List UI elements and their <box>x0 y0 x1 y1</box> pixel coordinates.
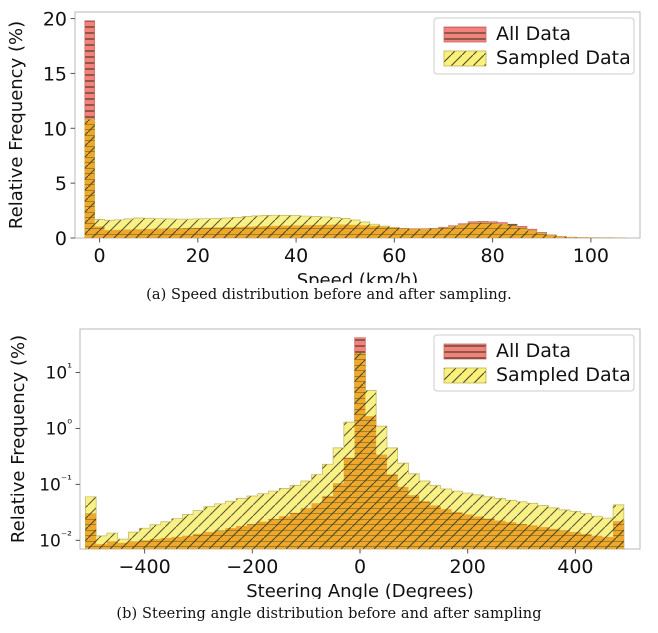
legend-item-all-data-swatch <box>444 27 486 42</box>
caption-b: (b) Steering angle distribution before a… <box>0 599 658 629</box>
y-tick-label: 10¹ <box>46 361 73 384</box>
x-axis-label: Steering Angle (Degrees) <box>246 581 473 599</box>
legend-item-all-data-label: All Data <box>496 23 571 45</box>
legend-item-sampled-data-swatch <box>444 368 486 383</box>
legend-item-all-data-swatch <box>444 344 486 359</box>
panel-steering-distribution: −400−200020040010⁻²10⁻¹10⁰10¹Steering An… <box>0 307 658 599</box>
y-tick-label: 20 <box>43 9 67 31</box>
y-tick-label: 0 <box>55 228 67 250</box>
caption-a: (a) Speed distribution before and after … <box>0 283 658 307</box>
x-tick-label: 200 <box>450 556 486 578</box>
steering-histogram-chart: −400−200020040010⁻²10⁻¹10⁰10¹Steering An… <box>0 307 658 599</box>
y-tick-label: 10⁻² <box>39 528 72 551</box>
x-tick-label: 0 <box>354 556 366 578</box>
y-tick-label: 10⁻¹ <box>39 472 72 495</box>
panel-speed-distribution: 02040608010005101520Speed (km/h)Relative… <box>0 0 658 283</box>
x-tick-label: 400 <box>557 556 593 578</box>
x-tick-label: 0 <box>94 245 106 267</box>
x-tick-label: 40 <box>284 245 308 267</box>
x-tick-label: 60 <box>382 245 406 267</box>
x-axis-label: Speed (km/h) <box>297 270 419 283</box>
y-tick-label: 10 <box>43 118 67 140</box>
y-tick-label: 5 <box>55 173 67 195</box>
figure-root: 02040608010005101520Speed (km/h)Relative… <box>0 0 658 633</box>
x-tick-label: 20 <box>186 245 210 267</box>
x-tick-label: 100 <box>573 245 609 267</box>
speed-histogram-chart: 02040608010005101520Speed (km/h)Relative… <box>0 0 658 283</box>
y-tick-label: 10⁰ <box>46 416 73 439</box>
chart-legend: All DataSampled Data <box>434 335 634 391</box>
y-axis-label: Relative Frequency (%) <box>6 21 27 229</box>
legend-item-sampled-data-swatch <box>444 51 486 66</box>
legend-item-sampled-data-label: Sampled Data <box>496 47 631 69</box>
x-tick-label: −200 <box>226 556 278 578</box>
y-axis-label: Relative Frequency (%) <box>8 335 29 543</box>
legend-item-all-data-label: All Data <box>496 340 571 362</box>
legend-item-sampled-data-label: Sampled Data <box>496 364 631 386</box>
chart-legend: All DataSampled Data <box>434 18 634 74</box>
x-tick-label: 80 <box>481 245 505 267</box>
y-tick-label: 15 <box>43 63 67 85</box>
x-tick-label: −400 <box>119 556 171 578</box>
